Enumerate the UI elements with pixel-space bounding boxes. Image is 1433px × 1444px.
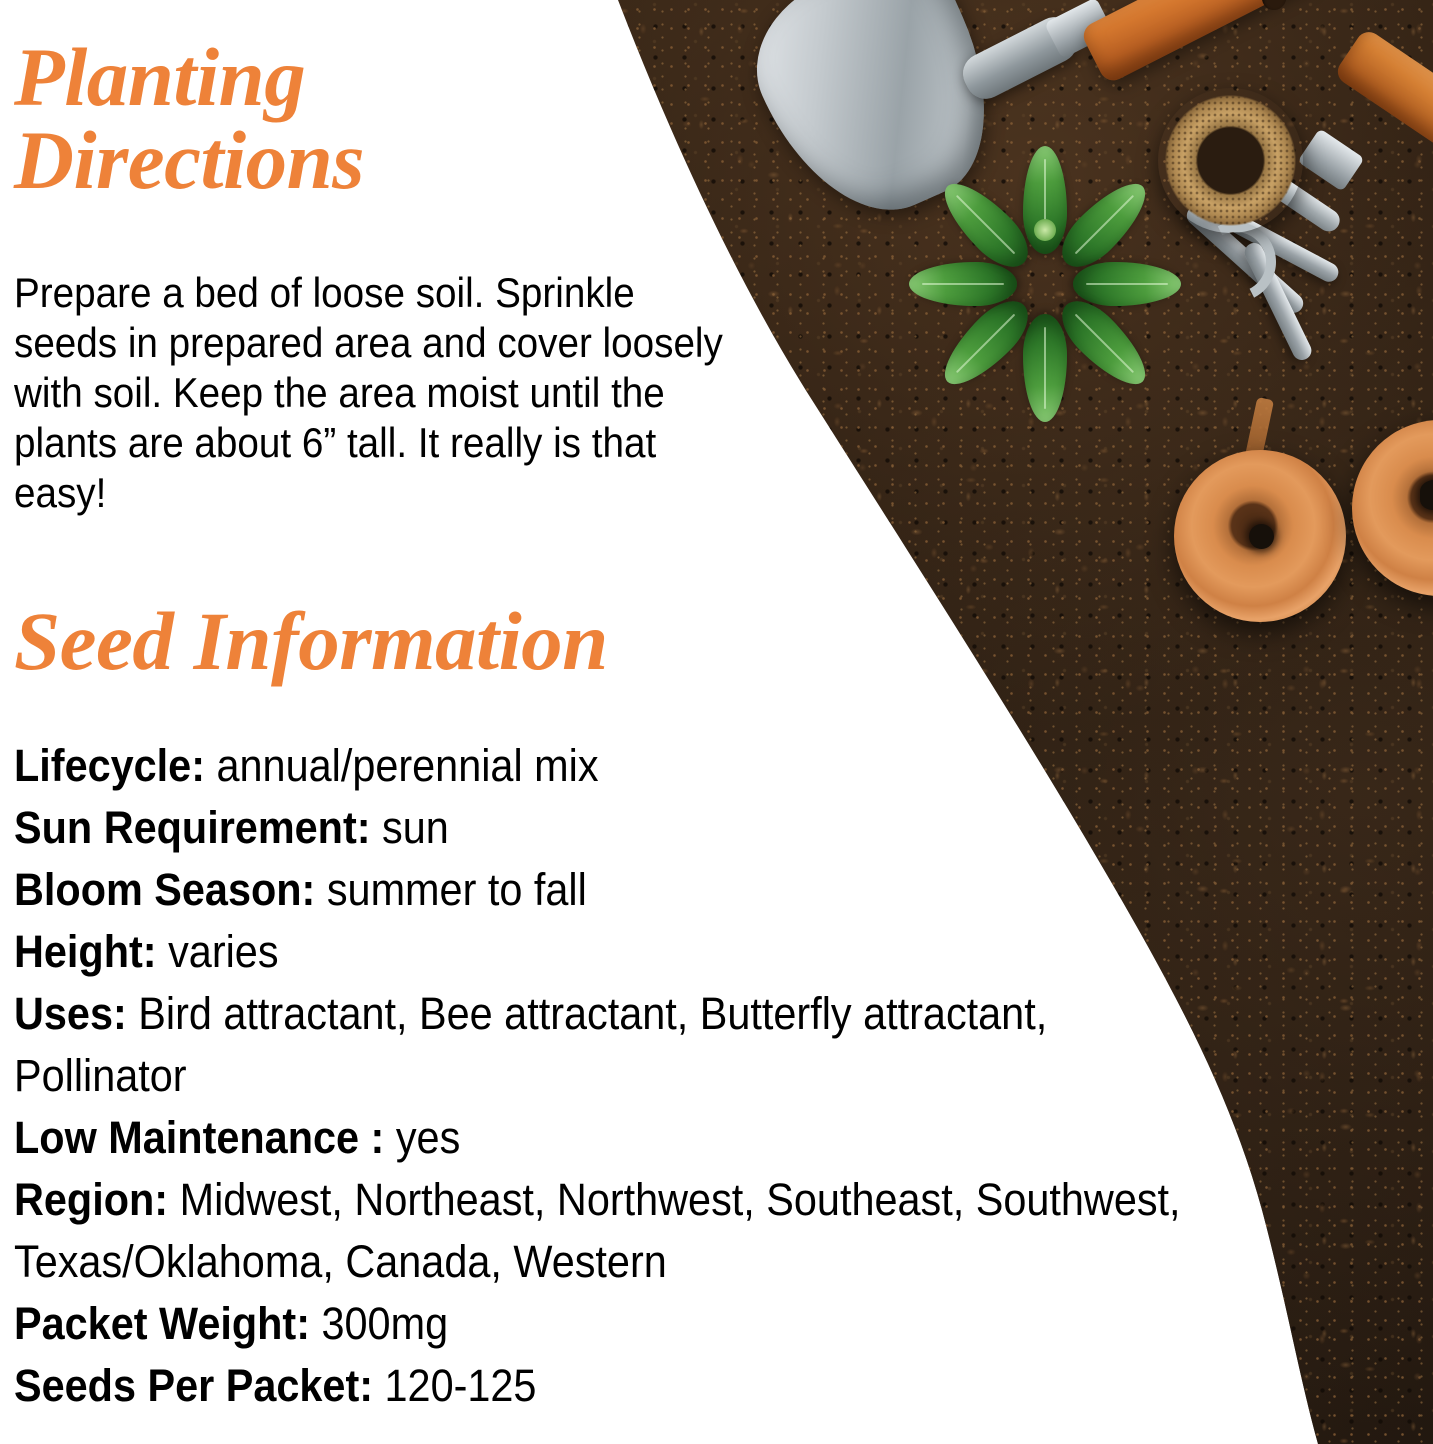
- seed-info-label: Sun Requirement:: [14, 802, 371, 853]
- seed-info-label: Bloom Season:: [14, 864, 315, 915]
- product-infographic: Planting Directions Prepare a bed of loo…: [0, 0, 1433, 1444]
- seed-info-value: annual/perennial mix: [205, 740, 599, 791]
- hand-cultivator-ferrule: [1297, 128, 1364, 191]
- seed-info-row: Lifecycle: annual/perennial mix: [14, 735, 1182, 797]
- garden-trowel-handle-hole: [1258, 0, 1290, 14]
- seed-info-value: 120-125: [373, 1360, 536, 1411]
- seed-info-row: Uses: Bird attractant, Bee attractant, B…: [14, 983, 1182, 1107]
- seed-info-value: varies: [157, 926, 279, 977]
- seed-info-value: 300mg: [310, 1298, 448, 1349]
- planting-directions-heading: Planting Directions: [14, 36, 364, 202]
- seed-info-label: Height:: [14, 926, 157, 977]
- hand-cultivator-handle: [1333, 27, 1433, 187]
- seed-info-label: Low Maintenance :: [14, 1112, 384, 1163]
- seed-info-label: Seeds Per Packet:: [14, 1360, 373, 1411]
- seed-info-row: Region: Midwest, Northeast, Northwest, S…: [14, 1169, 1182, 1293]
- seed-info-row: Low Maintenance : yes: [14, 1107, 1182, 1169]
- seed-info-value: Midwest, Northeast, Northwest, Southeast…: [14, 1174, 1181, 1287]
- seed-info-label: Packet Weight:: [14, 1298, 310, 1349]
- hand-cultivator-shaft: [1232, 150, 1344, 235]
- text-panel: Planting Directions Prepare a bed of loo…: [0, 0, 1200, 1444]
- hand-cultivator-tine: [1200, 198, 1341, 285]
- seed-info-label: Uses:: [14, 988, 127, 1039]
- seed-info-value: yes: [384, 1112, 460, 1163]
- hand-cultivator-tine: [1241, 240, 1314, 363]
- hand-cultivator-tine-bend: [1186, 212, 1287, 313]
- seed-info-label: Region:: [14, 1174, 168, 1225]
- hand-cultivator-tine: [1183, 202, 1307, 316]
- terracotta-pot-right: [1352, 420, 1433, 596]
- seed-info-value: sun: [371, 802, 449, 853]
- seed-info-row: Seeds Per Packet: 120-125: [14, 1355, 1182, 1417]
- seed-info-row: Packet Weight: 300mg: [14, 1293, 1182, 1355]
- terracotta-pot-right-drain-hole: [1420, 480, 1433, 510]
- seed-info-row: Bloom Season: summer to fall: [14, 859, 1182, 921]
- terracotta-pot-left-drain-hole: [1249, 524, 1274, 549]
- seed-information-heading: Seed Information: [14, 600, 608, 683]
- seed-info-row: Sun Requirement: sun: [14, 797, 1182, 859]
- seed-info-value: summer to fall: [315, 864, 586, 915]
- seed-info-row: Height: varies: [14, 921, 1182, 983]
- seed-information-list: Lifecycle: annual/perennial mixSun Requi…: [14, 735, 1182, 1417]
- wooden-stick: [1243, 397, 1274, 469]
- seed-info-label: Lifecycle:: [14, 740, 205, 791]
- seed-info-value: Bird attractant, Bee attractant, Butterf…: [14, 988, 1047, 1101]
- planting-directions-body: Prepare a bed of loose soil. Sprinkle se…: [14, 268, 741, 518]
